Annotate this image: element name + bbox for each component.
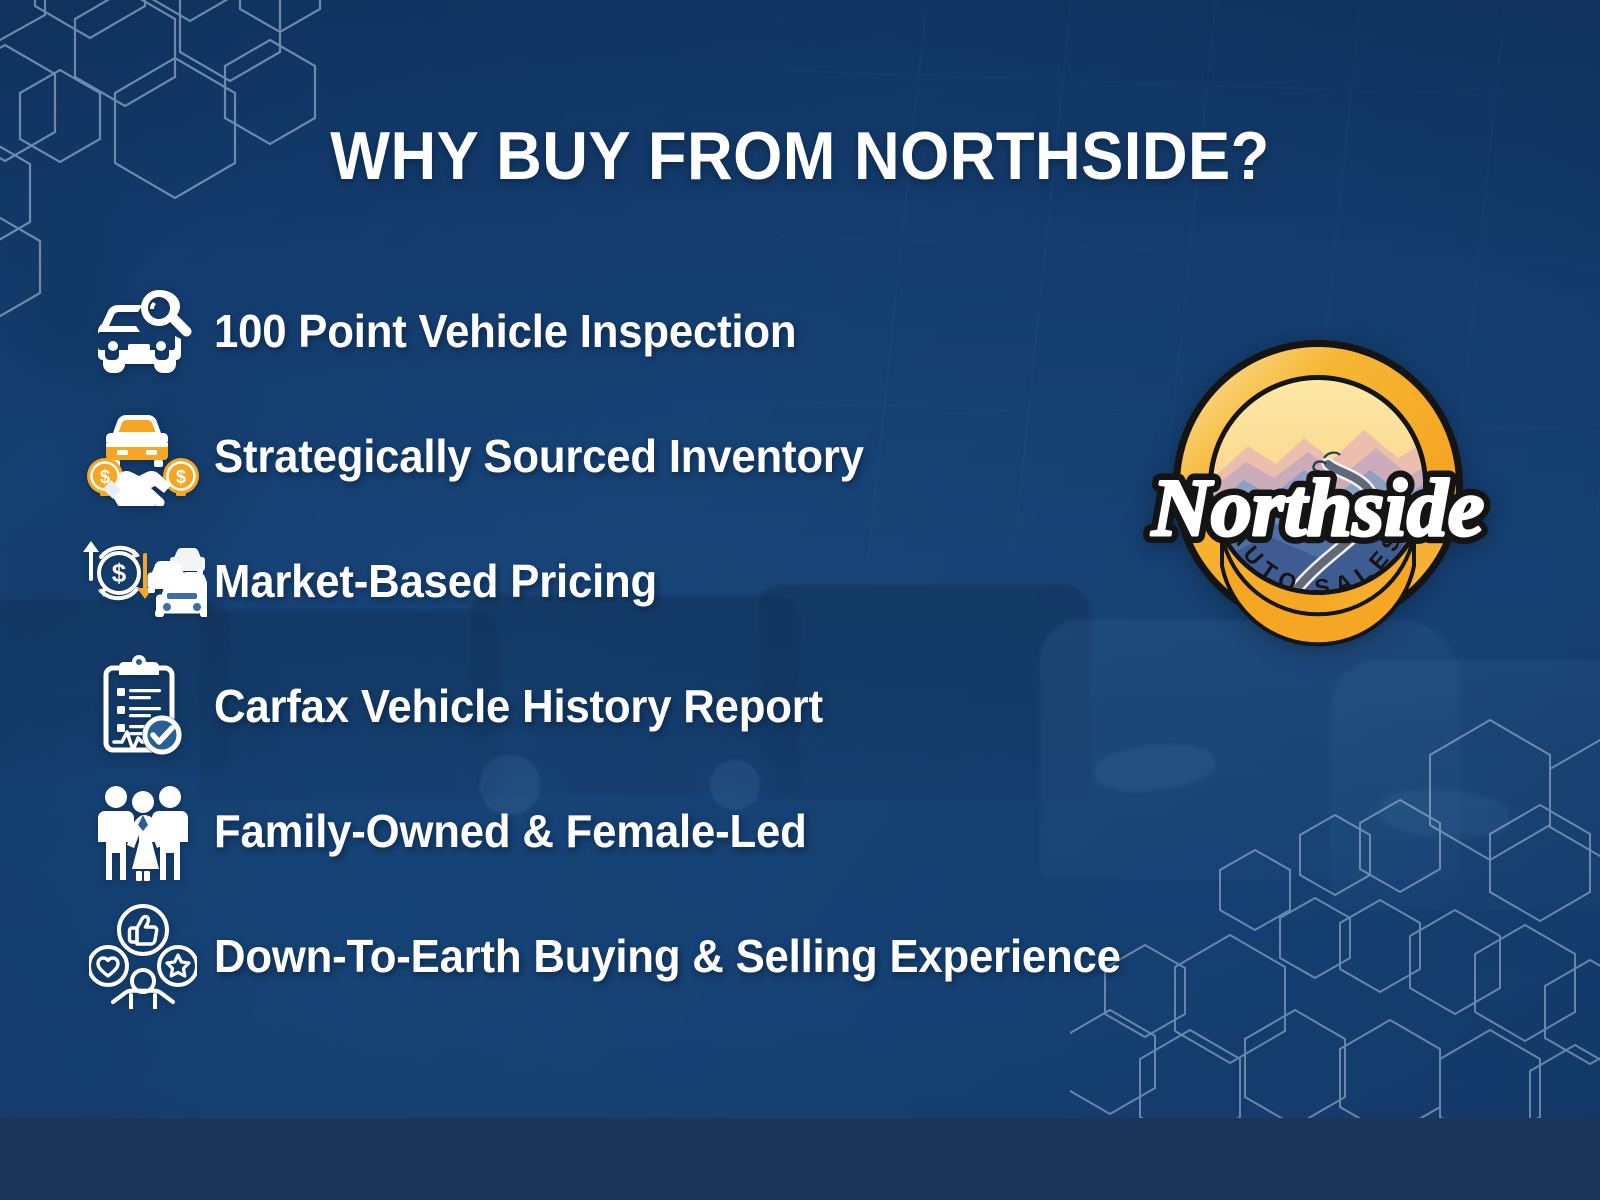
- logo-brand-name: Northside: [1151, 462, 1485, 553]
- list-item-label: 100 Point Vehicle Inspection: [214, 304, 796, 358]
- clipboard-check-icon: [72, 654, 214, 758]
- list-item: Down-To-Earth Buying & Selling Experienc…: [72, 893, 1362, 1018]
- car-magnifier-icon: [72, 288, 214, 374]
- list-item: Carfax Vehicle History Report: [72, 643, 1362, 768]
- svg-text:$: $: [112, 558, 127, 588]
- person-thumbsup-heart-star-icon: [72, 903, 214, 1009]
- money-cycle-cars-icon: $: [72, 533, 214, 629]
- slide-canvas: WHY BUY FROM NORTHSIDE? 100 Point Vehicl…: [0, 0, 1600, 1200]
- three-people-icon: [72, 781, 214, 881]
- svg-text:$: $: [176, 467, 186, 487]
- footer-bar: [0, 1118, 1600, 1200]
- page-title: WHY BUY FROM NORTHSIDE?: [56, 117, 1544, 195]
- list-item-label: Family-Owned & Female-Led: [214, 804, 807, 858]
- northside-auto-sales-logo: AUTO SALES Northside Northside: [1118, 330, 1518, 660]
- list-item-label: Strategically Sourced Inventory: [214, 429, 864, 483]
- list-item-label: Market-Based Pricing: [214, 554, 657, 608]
- list-item: Family-Owned & Female-Led: [72, 768, 1362, 893]
- list-item-label: Carfax Vehicle History Report: [214, 679, 823, 733]
- car-handshake-money-icon: $ $: [72, 406, 214, 506]
- list-item-label: Down-To-Earth Buying & Selling Experienc…: [214, 929, 1121, 983]
